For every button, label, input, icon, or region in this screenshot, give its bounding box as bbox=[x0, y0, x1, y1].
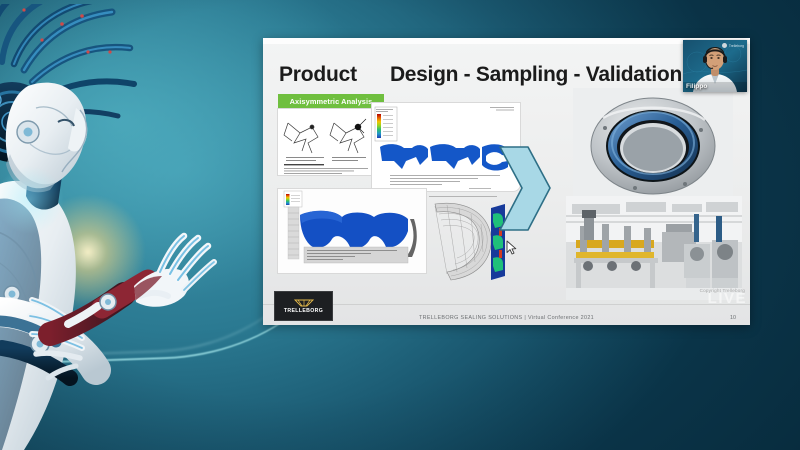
mouse-pointer bbox=[506, 240, 517, 255]
process-flow-chevron bbox=[496, 141, 554, 236]
axisymmetric-analysis-diagram bbox=[277, 108, 375, 176]
test-laboratory-photo bbox=[566, 196, 742, 300]
webcam-tile-speaker[interactable]: Filippo Trelleborg bbox=[683, 40, 747, 92]
slide-top-edge bbox=[263, 38, 750, 44]
slide-title-row: Product Design - Sampling - Validation bbox=[279, 60, 709, 90]
metal-ring-seal-photo bbox=[573, 88, 733, 200]
webcam-brand-badge: Trelleborg bbox=[722, 43, 744, 48]
fea-3d-extrusion-results bbox=[277, 188, 427, 274]
page-title-product: Product bbox=[279, 63, 357, 87]
screenshot-stage: Product Design - Sampling - Validation A… bbox=[0, 0, 800, 450]
brand-dot-icon bbox=[722, 43, 727, 48]
humanoid-robot-illustration bbox=[0, 4, 234, 450]
axisymmetric-analysis-label: Axisymmetric Analysis bbox=[290, 97, 373, 106]
trelleborg-logo-text: TRELLEBORG bbox=[284, 308, 323, 314]
page-title-main: Design - Sampling - Validation bbox=[390, 63, 682, 87]
page-number: 10 bbox=[730, 315, 736, 321]
footer-text: TRELLEBORG SEALING SOLUTIONS | Virtual C… bbox=[263, 315, 750, 321]
presentation-slide[interactable]: Product Design - Sampling - Validation A… bbox=[263, 38, 750, 325]
footer-divider bbox=[263, 304, 750, 305]
trelleborg-emblem-icon bbox=[294, 299, 314, 307]
axisymmetric-analysis-banner: Axisymmetric Analysis bbox=[278, 94, 384, 109]
webcam-participant-name: Filippo bbox=[686, 83, 707, 90]
webcam-badge-label: Trelleborg bbox=[729, 44, 744, 48]
